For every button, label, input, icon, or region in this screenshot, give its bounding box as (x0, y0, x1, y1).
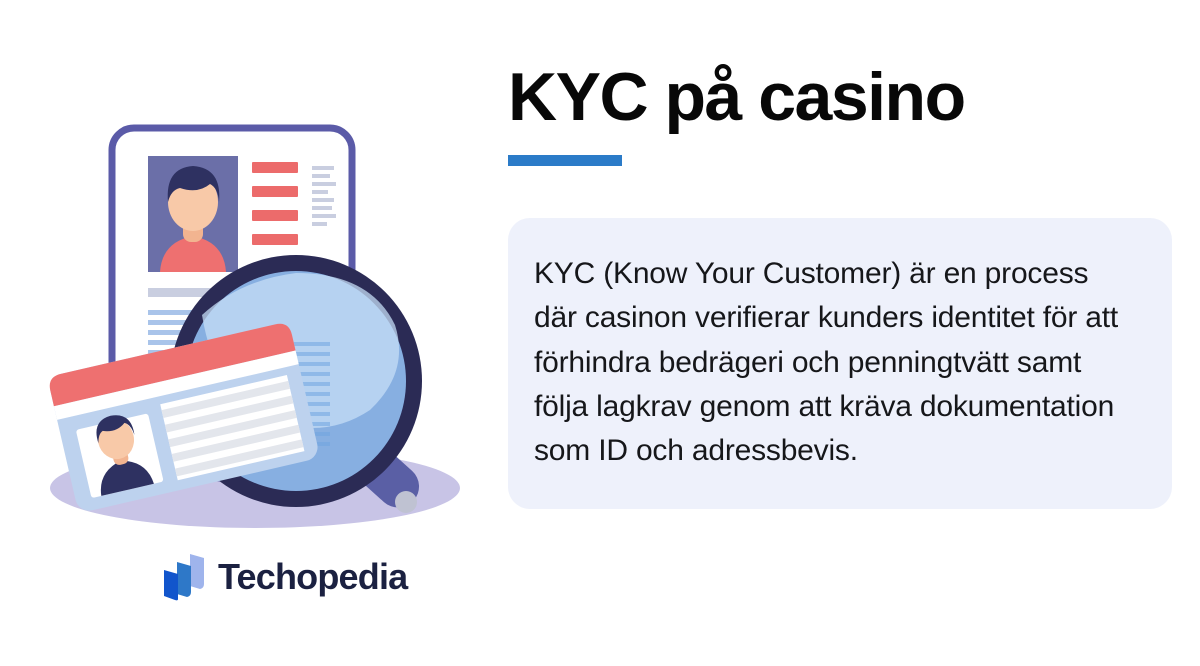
brand-name: Techopedia (218, 559, 407, 595)
content-column: KYC på casino KYC (Know Your Customer) ä… (508, 62, 1172, 509)
document-portrait-photo (148, 156, 238, 272)
techopedia-stacked-cards-icon (160, 552, 206, 602)
description-text: KYC (Know Your Customer) är en process d… (534, 252, 1138, 472)
kyc-identity-verification-illustration (40, 110, 500, 540)
page-title: KYC på casino (508, 62, 1172, 133)
description-card: KYC (Know Your Customer) är en process d… (508, 218, 1172, 508)
brand-logo[interactable]: Techopedia (160, 552, 407, 602)
title-accent-bar (508, 155, 622, 166)
infographic-canvas: Techopedia KYC på casino KYC (Know Your … (0, 0, 1200, 666)
